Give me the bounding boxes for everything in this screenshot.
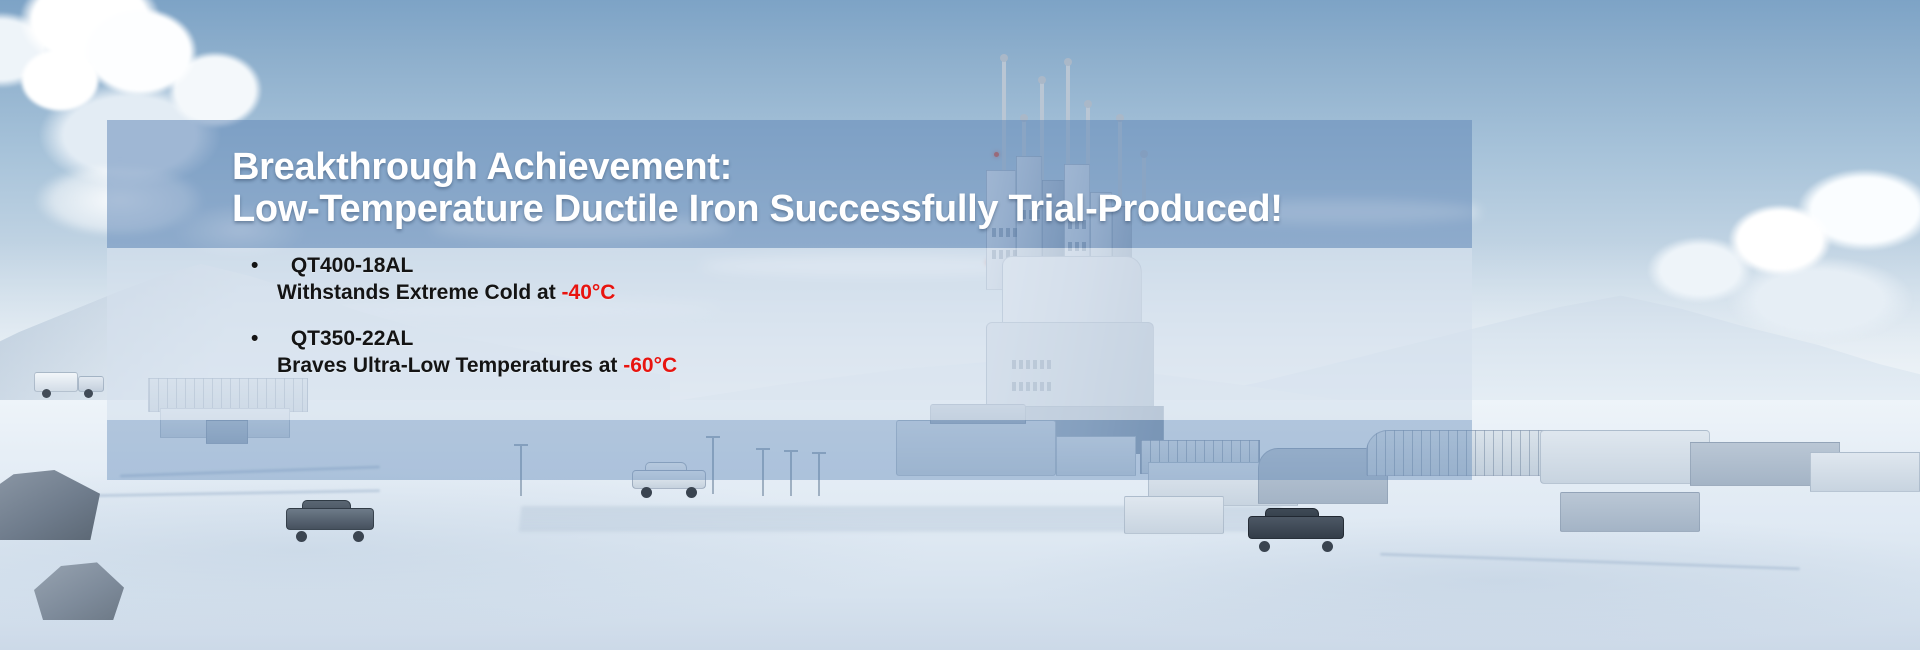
wheel (1259, 541, 1270, 552)
title-line-1: Breakthrough Achievement: (232, 146, 732, 188)
container-unit (1124, 496, 1224, 534)
list-item: • QT350-22AL Braves Ultra-Low Temperatur… (107, 327, 1472, 378)
sedan-bottom-right (1248, 508, 1344, 548)
truck-cargo (34, 372, 78, 392)
feature-list: • QT400-18AL Withstands Extreme Cold at … (107, 254, 1472, 378)
wheel (641, 487, 652, 498)
grade-label: QT350-22AL (291, 327, 414, 350)
grade-label: QT400-18AL (291, 254, 414, 277)
claim-line: Withstands Extreme Cold at -40°C (103, 281, 1472, 305)
truck-left (34, 368, 104, 398)
temperature-value: -60°C (623, 354, 677, 377)
bullet-icon: • (251, 254, 285, 278)
wheel (84, 389, 93, 398)
title-line-2: Low-Temperature Ductile Iron Successfull… (232, 190, 1462, 228)
grade-line: • QT350-22AL (107, 327, 1472, 351)
page-title: Breakthrough Achievement: Low-Temperatur… (232, 148, 1462, 228)
wheel (353, 531, 364, 542)
car-body (1248, 516, 1344, 539)
wheel (1322, 541, 1333, 552)
wheel (296, 531, 307, 542)
temperature-value: -40°C (562, 281, 616, 304)
suv-lower-left (286, 500, 374, 538)
ground-building (1540, 430, 1710, 484)
ground-building (1810, 452, 1920, 492)
car-body (286, 508, 374, 530)
container-unit (1560, 492, 1700, 532)
wheel (686, 487, 697, 498)
footer-band (107, 420, 1472, 480)
banner-overlay-panel: Breakthrough Achievement: Low-Temperatur… (107, 120, 1472, 420)
claim-text: Withstands Extreme Cold at (277, 281, 562, 304)
grade-line: • QT400-18AL (107, 254, 1472, 278)
list-item: • QT400-18AL Withstands Extreme Cold at … (107, 254, 1472, 305)
claim-text: Braves Ultra-Low Temperatures at (277, 354, 623, 377)
bullet-icon: • (251, 327, 285, 351)
wheel (42, 389, 51, 398)
claim-line: Braves Ultra-Low Temperatures at -60°C (103, 354, 1472, 378)
